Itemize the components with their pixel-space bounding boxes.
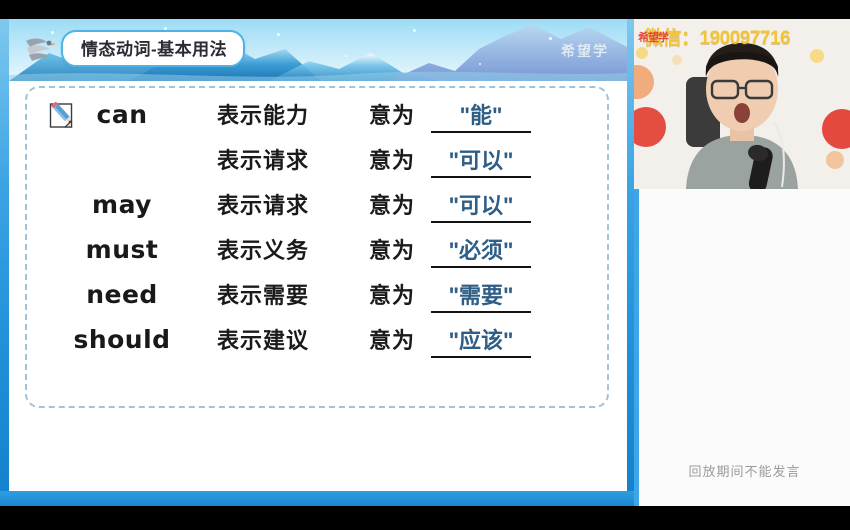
verb-cell: should bbox=[27, 325, 217, 354]
content-card: can 表示能力 意为 "能" 表示请求 意为 "可以" may 表示请求 bbox=[25, 86, 609, 408]
verb-cell: can bbox=[27, 100, 217, 129]
lesson-playback-window: 希望学 情态动词-基本用法 bbox=[0, 0, 850, 530]
letterbox-top bbox=[0, 0, 850, 19]
sparkle-icon bbox=[277, 33, 280, 36]
meaning-label: 意为 bbox=[369, 188, 431, 220]
usage-cell: 表示请求 bbox=[217, 143, 369, 175]
usage-cell: 表示请求 bbox=[217, 188, 369, 220]
usage-cell: 表示能力 bbox=[217, 98, 369, 130]
page-title: 情态动词-基本用法 bbox=[61, 30, 245, 67]
usage-cell: 表示建议 bbox=[217, 323, 369, 355]
table-row: must 表示义务 意为 "必须" bbox=[27, 233, 607, 278]
answer-blank: "必须" bbox=[431, 233, 531, 268]
table-row: need 表示需要 意为 "需要" bbox=[27, 278, 607, 323]
verb-cell bbox=[27, 145, 217, 174]
answer-blank: "应该" bbox=[431, 323, 531, 358]
slide-frame-left bbox=[0, 19, 9, 506]
slide-frame-bottom bbox=[0, 491, 634, 506]
sparkle-icon bbox=[413, 29, 416, 32]
table-row: may 表示请求 意为 "可以" bbox=[27, 188, 607, 233]
verb-cell: may bbox=[27, 190, 217, 219]
table-row: 表示请求 意为 "可以" bbox=[27, 143, 607, 188]
meaning-label: 意为 bbox=[369, 143, 431, 175]
right-panel: 希望学 微信：190097716 回放期间不能发言 bbox=[634, 19, 850, 506]
slide-frame-right bbox=[627, 19, 634, 506]
answer-blank: "能" bbox=[431, 98, 531, 133]
teacher-video[interactable]: 希望学 微信：190097716 bbox=[634, 19, 850, 189]
usage-cell: 表示义务 bbox=[217, 233, 369, 265]
meaning-label: 意为 bbox=[369, 323, 431, 355]
letterbox-bottom bbox=[0, 506, 850, 530]
answer-blank: "可以" bbox=[431, 143, 531, 178]
teacher-figure bbox=[634, 19, 850, 189]
sparkle-icon bbox=[345, 55, 347, 57]
meaning-label: 意为 bbox=[369, 98, 431, 130]
slide-area: 希望学 情态动词-基本用法 bbox=[0, 19, 634, 506]
sparkle-icon bbox=[549, 37, 552, 40]
chat-disabled-notice: 回放期间不能发言 bbox=[639, 461, 850, 480]
slide-content: 希望学 情态动词-基本用法 bbox=[9, 19, 627, 491]
answer-blank: "需要" bbox=[431, 278, 531, 313]
table-row: can 表示能力 意为 "能" bbox=[27, 98, 607, 143]
usage-cell: 表示需要 bbox=[217, 278, 369, 310]
video-background bbox=[634, 19, 850, 189]
table-row: should 表示建议 意为 "应该" bbox=[27, 323, 607, 368]
meaning-label: 意为 bbox=[369, 233, 431, 265]
meaning-label: 意为 bbox=[369, 278, 431, 310]
answer-blank: "可以" bbox=[431, 188, 531, 223]
chat-panel[interactable]: 回放期间不能发言 bbox=[634, 189, 850, 506]
sparkle-icon bbox=[479, 63, 481, 65]
modal-verbs-table: can 表示能力 意为 "能" 表示请求 意为 "可以" may 表示请求 bbox=[27, 98, 607, 368]
verb-cell: must bbox=[27, 235, 217, 264]
slide-title-row: 情态动词-基本用法 bbox=[23, 30, 245, 67]
verb-cell: need bbox=[27, 280, 217, 309]
